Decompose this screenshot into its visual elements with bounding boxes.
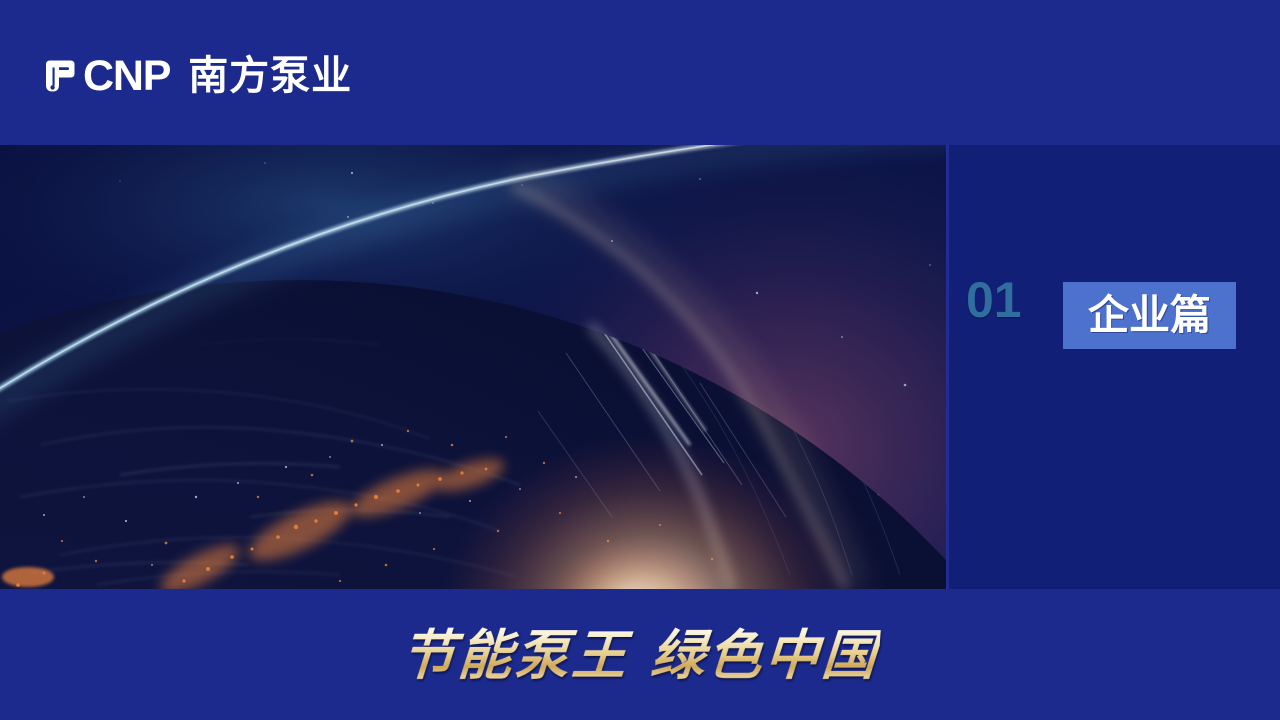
- section-title-highlight: 企业篇: [1063, 282, 1236, 349]
- slide-header: CNP 南方泵业: [0, 0, 1280, 145]
- logo-latin-text: CNP: [83, 55, 170, 98]
- logo-chinese-text: 南方泵业: [188, 56, 352, 96]
- presentation-slide: CNP 南方泵业: [0, 0, 1280, 720]
- cnp-logo-mark-icon: [40, 57, 78, 95]
- section-panel: [946, 145, 1280, 589]
- company-logo: CNP 南方泵业: [40, 48, 352, 104]
- section-number: 01: [966, 275, 1022, 325]
- section-heading: 01 企业篇: [946, 270, 1280, 365]
- earth-from-space-photo: [0, 145, 946, 589]
- section-title-text: 企业篇: [1088, 295, 1211, 336]
- tagline-container: 节能泵王 绿色中国: [0, 627, 1280, 684]
- company-tagline: 节能泵王 绿色中国: [399, 627, 881, 684]
- panel-divider: [946, 145, 949, 589]
